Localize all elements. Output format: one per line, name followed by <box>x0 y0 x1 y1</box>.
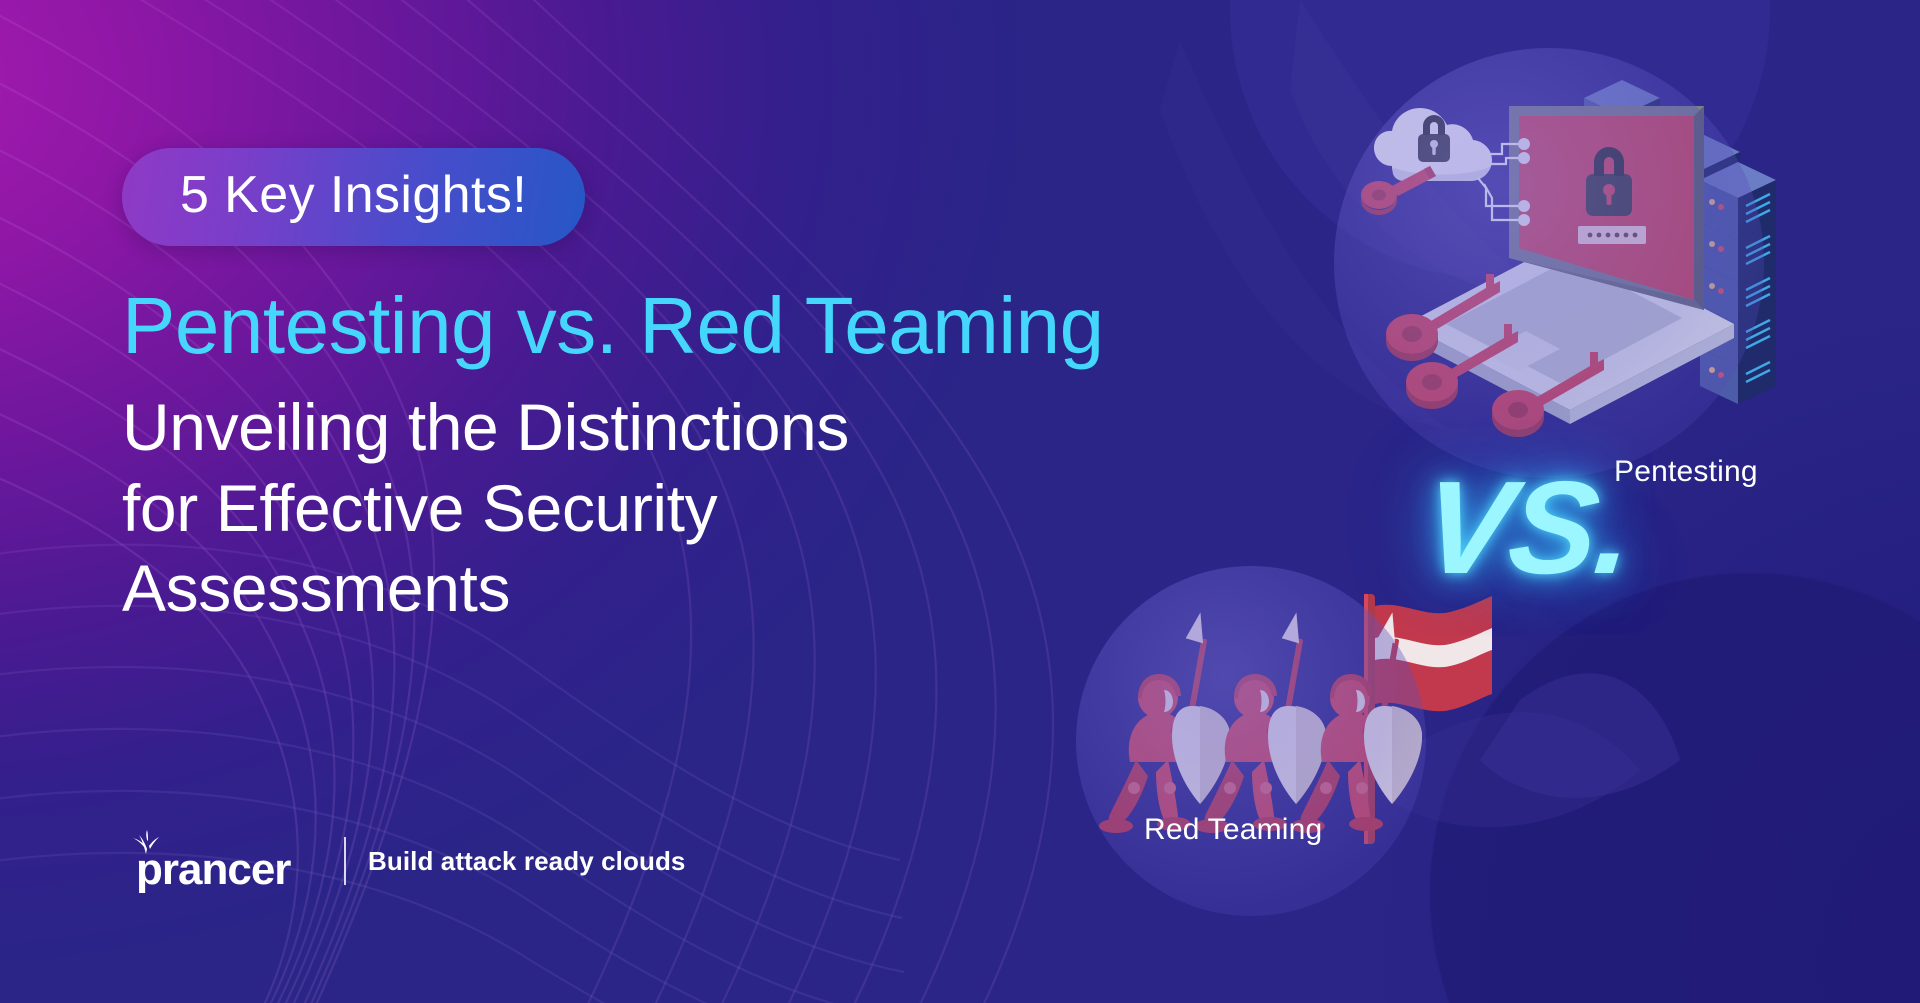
page-title: Pentesting vs. Red Teaming <box>122 284 1122 367</box>
subtitle-line-1: Unveiling the Distinctions <box>122 387 1122 468</box>
headline-block: 5 Key Insights! Pentesting vs. Red Teami… <box>122 148 1122 629</box>
pentesting-circle-backdrop <box>1334 48 1764 478</box>
red-teaming-illustration <box>1072 566 1492 926</box>
versus-label: VS. <box>1417 462 1638 594</box>
logo-divider <box>344 837 346 885</box>
insights-badge: 5 Key Insights! <box>122 148 585 246</box>
subtitle-line-2: for Effective Security <box>122 468 1122 549</box>
logo-tagline: Build attack ready clouds <box>368 846 685 877</box>
subtitle-line-3: Assessments <box>122 548 1122 629</box>
red-teaming-circle-backdrop <box>1076 566 1426 916</box>
pentesting-illustration <box>1334 48 1804 518</box>
red-teaming-label: Red Teaming <box>1144 813 1322 847</box>
svg-text:prancer: prancer <box>136 845 291 894</box>
promo-banner: 5 Key Insights! Pentesting vs. Red Teami… <box>0 0 1920 1003</box>
brand-logo: prancer Build attack ready clouds <box>128 828 685 894</box>
page-subtitle: Unveiling the Distinctions for Effective… <box>122 387 1122 629</box>
prancer-wordmark-logo: prancer <box>128 828 318 894</box>
